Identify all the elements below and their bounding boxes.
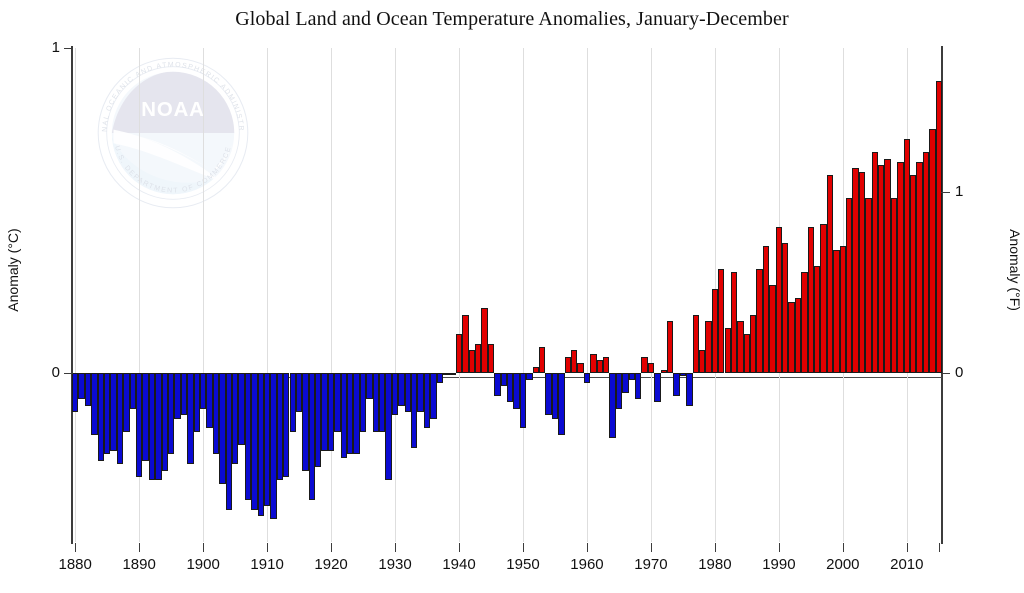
x-tick-1910 (267, 543, 268, 552)
gridline-1970 (651, 48, 652, 542)
chart-title: Global Land and Ocean Temperature Anomal… (0, 8, 1024, 31)
y-tick-label-left-1: 1 (30, 39, 60, 56)
gridline-1930 (395, 48, 396, 542)
x-tick-label-1960: 1960 (557, 556, 617, 573)
y-tick-right-0 (941, 373, 950, 374)
x-tick-label-1990: 1990 (749, 556, 809, 573)
chart-figure: Global Land and Ocean Temperature Anomal… (0, 0, 1024, 593)
gridline-1920 (331, 48, 332, 542)
x-tick-2010 (907, 543, 908, 552)
y-tick-label-right-0: 0 (955, 364, 985, 381)
bar (667, 321, 673, 373)
bar (936, 81, 942, 374)
x-tick-1940 (459, 543, 460, 552)
bar (520, 373, 526, 428)
x-tick-label-1890: 1890 (109, 556, 169, 573)
x-tick-label-1900: 1900 (173, 556, 233, 573)
x-tick-label-1950: 1950 (493, 556, 553, 573)
x-tick-1950 (523, 543, 524, 552)
x-tick-1920 (331, 543, 332, 552)
bar (686, 373, 692, 406)
y-axis-right-label: Anomaly (°F) (1007, 160, 1023, 380)
x-tick-label-1880: 1880 (45, 556, 105, 573)
x-tick-label-1970: 1970 (621, 556, 681, 573)
bar (539, 347, 545, 373)
bar (558, 373, 564, 435)
x-tick-label-1980: 1980 (685, 556, 745, 573)
x-tick-1980 (715, 543, 716, 552)
y-tick-left-0 (64, 373, 73, 374)
x-tick-label-1940: 1940 (429, 556, 489, 573)
x-tick-1900 (203, 543, 204, 552)
bar (577, 363, 583, 373)
gridline-1950 (523, 48, 524, 542)
gridline-1960 (587, 48, 588, 542)
x-tick-1990 (779, 543, 780, 552)
y-tick-label-left-0: 0 (30, 364, 60, 381)
bar (603, 357, 609, 373)
bar (526, 373, 532, 380)
x-tick-1880 (75, 543, 76, 552)
bar (635, 373, 641, 399)
bar (488, 344, 494, 373)
gridline-1880 (75, 48, 76, 542)
x-tick-1890 (139, 543, 140, 552)
x-tick-label-1920: 1920 (301, 556, 361, 573)
x-tick-1930 (395, 543, 396, 552)
gridline-1940 (459, 48, 460, 542)
gridline-1900 (203, 48, 204, 542)
x-tick-label-1910: 1910 (237, 556, 297, 573)
y-tick-left-1 (64, 48, 73, 49)
x-tick-label-1930: 1930 (365, 556, 425, 573)
plot-area (72, 48, 942, 542)
bar (449, 373, 455, 375)
bar (584, 373, 590, 383)
y-axis-left-label: Anomaly (°C) (5, 160, 21, 380)
x-tick-1960 (587, 543, 588, 552)
x-tick-label-2010: 2010 (877, 556, 937, 573)
x-tick-2015 (939, 543, 940, 552)
x-tick-2000 (843, 543, 844, 552)
x-tick-label-2000: 2000 (813, 556, 873, 573)
y-tick-right-1 (941, 192, 950, 193)
y-tick-label-right-1: 1 (955, 183, 985, 200)
bar (648, 363, 654, 373)
x-tick-1970 (651, 543, 652, 552)
bar (673, 373, 679, 396)
bar (654, 373, 660, 402)
